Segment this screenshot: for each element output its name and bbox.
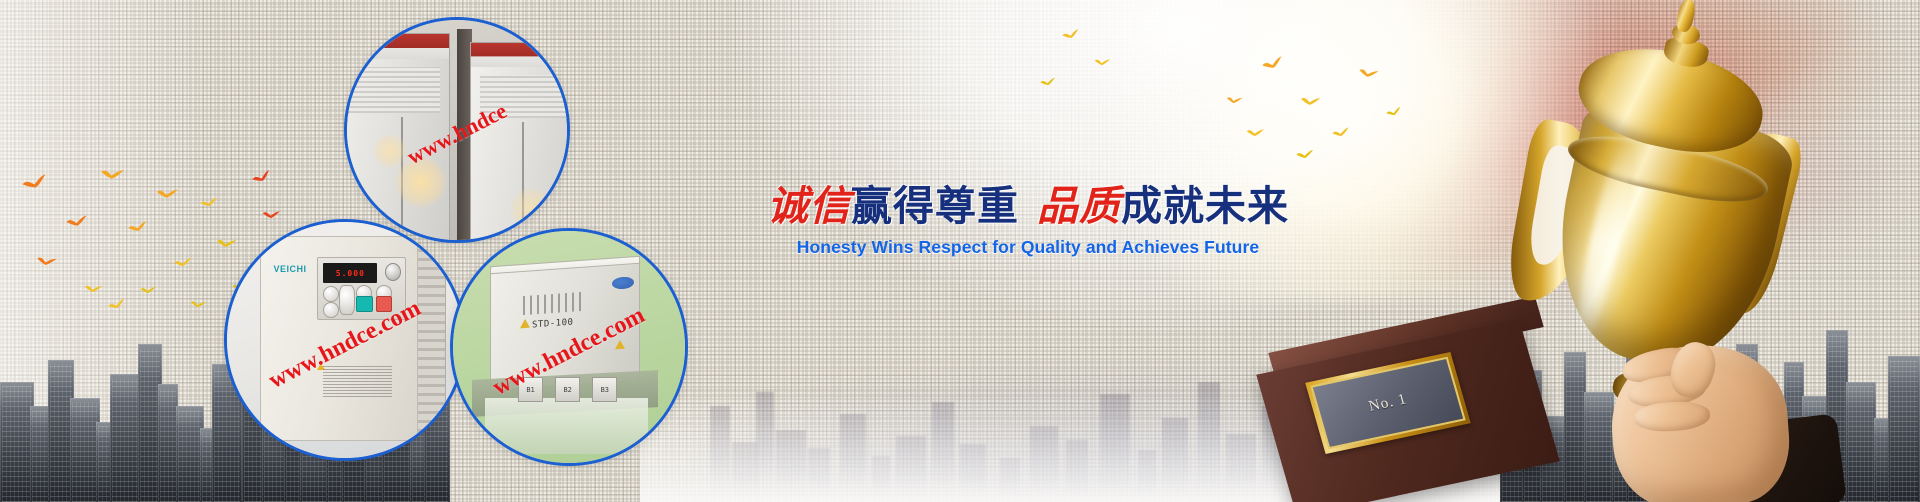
headline-block: 诚信赢得尊重品质成就未来 Honesty Wins Respect for Qu… <box>718 185 1338 258</box>
std-terminal-b3: B3 <box>592 377 617 402</box>
inverter-key-1 <box>323 286 339 301</box>
building <box>110 374 140 502</box>
bird-icon <box>65 215 88 231</box>
std-terminal-b1: B1 <box>518 377 543 402</box>
product-photo-inverter[interactable]: VEICHI 5.000 www.hndce.com <box>224 219 466 461</box>
inverter-body: VEICHI 5.000 <box>260 236 418 441</box>
inverter-warning-text-block <box>323 365 392 397</box>
inverter-potentiometer-knob <box>385 263 401 281</box>
std-terminal-b2: B2 <box>555 377 580 402</box>
veichi-brand-label: VEICHI <box>273 264 306 274</box>
slogan-part-3-red: 品质 <box>1037 182 1121 230</box>
cabinet-vents-2 <box>480 75 570 119</box>
inverter-stop-button <box>376 296 393 311</box>
bird-icon <box>1093 57 1110 69</box>
std-warning-triangle-icon-2 <box>615 340 625 350</box>
bird-icon <box>155 187 178 203</box>
inverter-fwd-button <box>356 296 373 311</box>
slogan-part-2-blue: 赢得尊重 <box>851 182 1019 230</box>
lens-flare-3 <box>510 187 554 231</box>
building <box>158 384 178 502</box>
cabinet-vents <box>344 67 440 112</box>
bird-icon <box>174 257 193 269</box>
promotional-banner: www.hndce VEICHI 5.000 www.h <box>0 0 1920 502</box>
trophy-plaque-text: No. 1 <box>1367 391 1409 415</box>
bird-icon <box>1040 77 1057 89</box>
trophy-illustration: No. 1 <box>1260 0 1920 502</box>
bird-icon <box>261 209 280 222</box>
std-warning-triangle-icon <box>520 319 530 329</box>
cabinet-top-trim-2 <box>471 43 570 67</box>
headline-subtitle-english: Honesty Wins Respect for Quality and Ach… <box>718 237 1338 258</box>
building <box>0 382 34 502</box>
product-photo-std-box[interactable]: STD-100 B1 B2 B3 www.hndce.com <box>450 228 688 466</box>
bird-icon <box>99 166 125 184</box>
slogan-part-1-red: 诚信 <box>767 182 851 230</box>
inverter-display-value: 5.000 <box>336 269 365 278</box>
product-photo-cabinets[interactable]: www.hndce <box>344 17 570 243</box>
std-box-skirt <box>485 398 647 454</box>
std-box-vents <box>523 292 583 315</box>
inverter-led-display: 5.000 <box>323 263 377 282</box>
cabinet-top-trim <box>344 34 449 59</box>
bird-icon <box>140 285 157 296</box>
inverter-keypad-panel: 5.000 <box>317 257 406 320</box>
inverter-key-updown <box>339 285 355 315</box>
inverter-key-2 <box>323 302 339 317</box>
headline-slogan-line: 诚信赢得尊重品质成就未来 <box>718 185 1338 228</box>
